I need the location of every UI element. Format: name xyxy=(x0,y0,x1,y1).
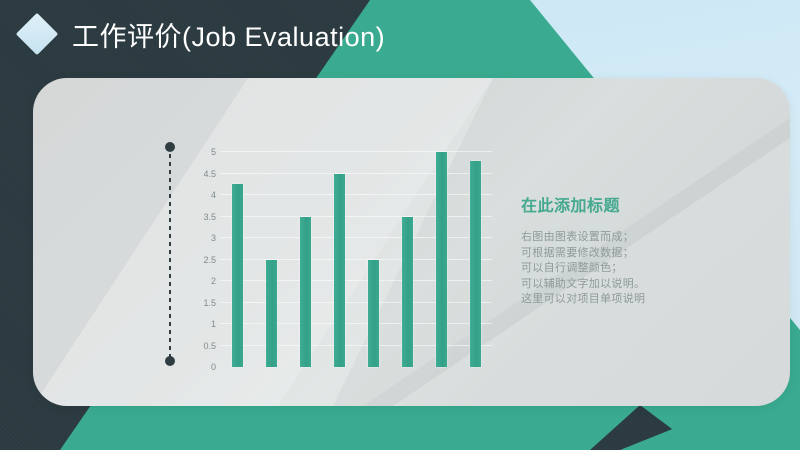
description-block: 在此添加标题 右图由图表设置而成；可根据需要修改数据；可以自行调整颜色；可以辅助… xyxy=(521,192,696,308)
y-tick-label: 1 xyxy=(211,319,216,329)
chart-gridline xyxy=(220,216,492,217)
description-line: 可以自行调整颜色； xyxy=(521,261,696,277)
y-axis-dashed-line xyxy=(169,146,171,362)
y-tick-label: 0 xyxy=(211,362,216,372)
chart-gridline xyxy=(220,259,492,260)
chart-bar xyxy=(232,184,243,367)
description-line: 这里可以对项目单项说明 xyxy=(521,292,696,308)
y-axis-bottom-dot xyxy=(165,356,175,366)
chart-gridline xyxy=(220,173,492,174)
chart-gridline xyxy=(220,323,492,324)
chart-gridline xyxy=(220,194,492,195)
chart-gridline xyxy=(220,345,492,346)
description-body: 右图由图表设置而成；可根据需要修改数据；可以自行调整颜色；可以辅助文字加以说明。… xyxy=(521,230,696,308)
y-tick-label: 3.5 xyxy=(203,212,216,222)
y-tick-label: 4.5 xyxy=(203,169,216,179)
diamond-icon xyxy=(16,13,58,55)
chart-bar xyxy=(470,161,481,367)
chart-bar xyxy=(436,152,447,367)
y-tick-label: 2 xyxy=(211,276,216,286)
chart-gridline xyxy=(220,280,492,281)
description-line: 可根据需要修改数据； xyxy=(521,246,696,262)
y-axis-top-dot xyxy=(165,142,175,152)
y-axis-tick-labels: 54.543.532.521.510.50 xyxy=(182,140,216,368)
chart-gridline xyxy=(220,302,492,303)
chart-gridline xyxy=(220,237,492,238)
y-tick-label: 2.5 xyxy=(203,255,216,265)
y-tick-label: 3 xyxy=(211,233,216,243)
y-tick-label: 4 xyxy=(211,190,216,200)
description-line: 右图由图表设置而成； xyxy=(521,230,696,246)
description-heading: 在此添加标题 xyxy=(521,192,696,216)
bar-chart: 54.543.532.521.510.50 xyxy=(160,140,500,370)
chart-plot-area xyxy=(220,152,492,367)
chart-gridline xyxy=(220,151,492,152)
chart-bar xyxy=(368,260,379,368)
description-line: 可以辅助文字加以说明。 xyxy=(521,277,696,293)
slide-canvas: 工作评价(Job Evaluation) 54.543.532.521.510.… xyxy=(0,0,800,450)
chart-bar xyxy=(266,260,277,368)
slide-header: 工作评价(Job Evaluation) xyxy=(0,0,800,70)
chart-bar xyxy=(334,174,345,368)
chart-bar xyxy=(300,217,311,368)
page-title: 工作评价(Job Evaluation) xyxy=(72,15,385,54)
y-tick-label: 0.5 xyxy=(203,341,216,351)
y-tick-label: 5 xyxy=(211,147,216,157)
chart-bar xyxy=(402,217,413,368)
y-tick-label: 1.5 xyxy=(203,298,216,308)
